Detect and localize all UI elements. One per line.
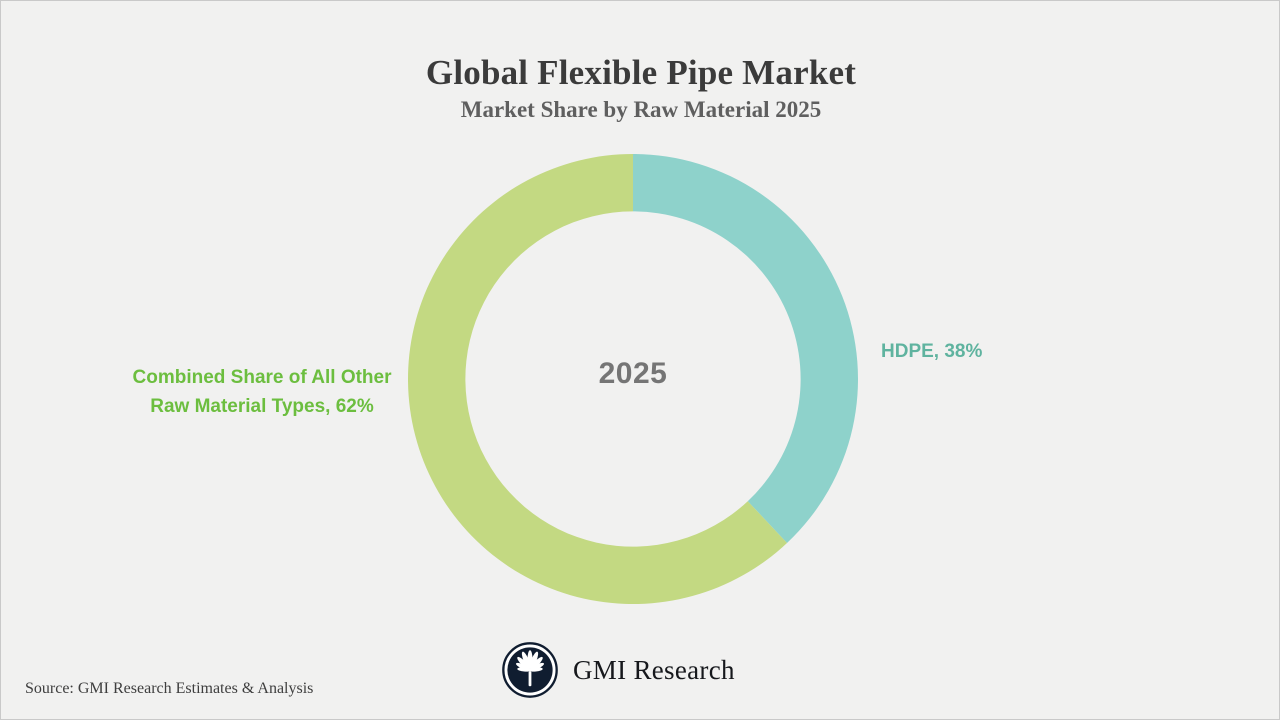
page-title: Global Flexible Pipe Market <box>1 53 1280 93</box>
slice-label-other: Combined Share of All Other Raw Material… <box>127 363 397 421</box>
brand-block: GMI Research <box>501 641 735 699</box>
page-subtitle: Market Share by Raw Material 2025 <box>1 97 1280 123</box>
gmi-fan-logo-icon <box>501 641 559 699</box>
source-note: Source: GMI Research Estimates & Analysi… <box>25 680 313 698</box>
brand-name: GMI Research <box>573 655 735 686</box>
donut-center-label: 2025 <box>407 357 859 391</box>
donut-slice-hdpe[interactable] <box>633 154 858 543</box>
chart-canvas: Global Flexible Pipe Market Market Share… <box>0 0 1280 720</box>
slice-label-hdpe: HDPE, 38% <box>881 337 1137 366</box>
